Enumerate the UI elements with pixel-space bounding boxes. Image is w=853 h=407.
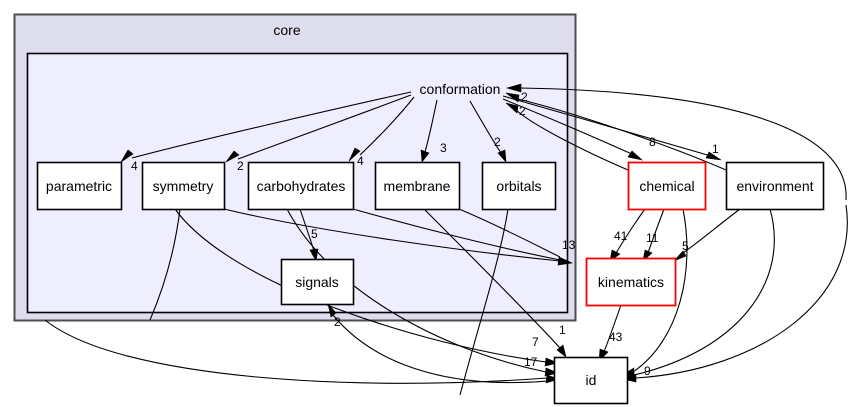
edge-id-signals xyxy=(333,315,548,383)
edge-label: 1 xyxy=(559,323,566,337)
node-signals-label: signals xyxy=(295,274,339,290)
edge-label: 4 xyxy=(131,159,138,173)
edge-label: 5 xyxy=(682,239,689,253)
node-carbohydrates-label: carbohydrates xyxy=(257,178,346,194)
edge-label: 4 xyxy=(357,154,364,168)
node-signals[interactable]: signals xyxy=(282,260,354,305)
node-environment[interactable]: environment xyxy=(727,163,824,210)
cluster-core-label: core xyxy=(273,22,300,38)
node-parametric[interactable]: parametric xyxy=(38,163,122,210)
node-membrane[interactable]: membrane xyxy=(376,163,460,210)
edge-label: 7 xyxy=(532,335,539,349)
edge-label: 2 xyxy=(237,159,244,173)
edge-kinematics-id xyxy=(604,305,621,352)
edge-label: 2 xyxy=(334,315,341,329)
node-chemical-label: chemical xyxy=(639,178,694,194)
edge-label: 8 xyxy=(649,135,656,149)
edge-label: 1 xyxy=(712,142,719,156)
node-orbitals[interactable]: orbitals xyxy=(483,163,556,210)
arrowhead xyxy=(628,151,642,160)
node-id[interactable]: id xyxy=(555,358,628,404)
node-carbohydrates[interactable]: carbohydrates xyxy=(249,163,354,210)
cluster-conformation-label: conformation xyxy=(420,81,501,97)
node-kinematics[interactable]: kinematics xyxy=(587,259,676,306)
edge-label: 43 xyxy=(609,330,623,344)
edge-label: 2 xyxy=(519,104,526,118)
edge-label: 5 xyxy=(311,227,318,241)
edge-label: 41 xyxy=(614,229,628,243)
node-id-label: id xyxy=(586,372,597,388)
edge-label: 9 xyxy=(644,364,651,378)
node-membrane-label: membrane xyxy=(384,178,451,194)
node-symmetry-label: symmetry xyxy=(153,178,214,194)
edge-label: 17 xyxy=(524,355,538,369)
edge-label: 11 xyxy=(646,231,659,245)
node-symmetry[interactable]: symmetry xyxy=(143,163,225,210)
directory-dependency-graph: core conformation xyxy=(0,0,853,407)
edge-label: 2 xyxy=(521,90,528,104)
node-parametric-label: parametric xyxy=(46,178,112,194)
edge-environment-kinematics xyxy=(683,209,740,253)
node-chemical[interactable]: chemical xyxy=(629,163,706,210)
node-kinematics-label: kinematics xyxy=(598,274,664,290)
edge-label: 13 xyxy=(562,238,576,252)
edge-label: 2 xyxy=(494,135,501,149)
edge-label: 3 xyxy=(440,141,447,155)
node-environment-label: environment xyxy=(736,178,813,194)
node-orbitals-label: orbitals xyxy=(496,178,541,194)
graph-canvas: core conformation xyxy=(0,0,853,407)
